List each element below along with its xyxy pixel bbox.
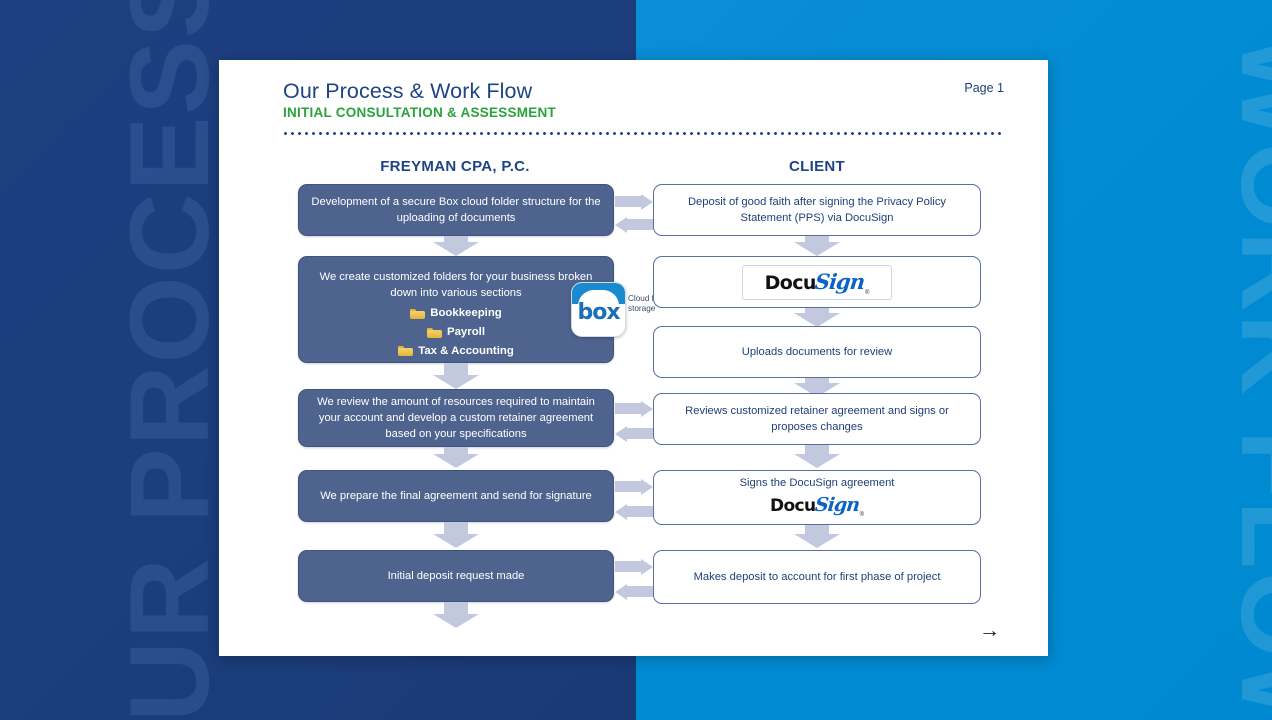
list-item: Tax & Accounting bbox=[398, 343, 514, 360]
page-label: Page 1 bbox=[964, 81, 1004, 95]
folder-icon bbox=[427, 327, 442, 338]
registered-mark: ® bbox=[865, 289, 869, 298]
folder-list: Bookkeeping Payroll Tax & Accounting bbox=[311, 305, 601, 359]
registered-mark: ® bbox=[860, 511, 864, 520]
arrow-down-firm-3 bbox=[433, 447, 479, 468]
arrow-left-row-5 bbox=[615, 583, 653, 600]
arrow-down-client-5 bbox=[794, 525, 840, 548]
column-header-firm: FREYMAN CPA, P.C. bbox=[297, 158, 613, 175]
arrow-right-row-4 bbox=[615, 478, 653, 495]
docusign-logo-panel: Docu Sign ® bbox=[742, 265, 892, 300]
column-header-client: CLIENT bbox=[653, 158, 981, 175]
client-step-3: Uploads documents for review bbox=[653, 326, 981, 378]
slide-stage: OUR PROCESS WORK FLOW Page 1 Our Process… bbox=[0, 0, 1272, 720]
header-dotted-divider bbox=[282, 132, 1002, 135]
list-item: Bookkeeping bbox=[410, 305, 502, 322]
arrow-left-row-1 bbox=[615, 216, 653, 233]
arrow-down-client-4 bbox=[794, 445, 840, 468]
arrow-right-row-3 bbox=[615, 400, 653, 417]
page-title: Our Process & Work Flow bbox=[283, 79, 532, 104]
firm-step-2-text: We create customized folders for your bu… bbox=[311, 269, 601, 301]
docusign-docu-text: Docu bbox=[765, 270, 816, 298]
arrow-down-client-1 bbox=[794, 236, 840, 256]
firm-step-4: We prepare the final agreement and send … bbox=[298, 470, 614, 522]
client-docusign-logo-box: Docu Sign ® bbox=[653, 256, 981, 308]
watermark-work-flow: WORK FLOW bbox=[1224, 0, 1272, 720]
folder-icon bbox=[410, 308, 425, 319]
firm-step-1: Development of a secure Box cloud folder… bbox=[298, 184, 614, 236]
list-item: Payroll bbox=[427, 324, 485, 341]
arrow-left-row-3 bbox=[615, 425, 653, 442]
docusign-logo-icon: Docu Sign ® bbox=[770, 492, 864, 520]
arrow-down-firm-5 bbox=[433, 602, 479, 628]
docusign-sign-text: Sign bbox=[813, 492, 860, 520]
folder-icon bbox=[398, 345, 413, 356]
client-step-5-text: Signs the DocuSign agreement bbox=[740, 475, 895, 491]
client-step-6: Makes deposit to account for first phase… bbox=[653, 550, 981, 604]
folder-label: Bookkeeping bbox=[430, 305, 502, 322]
slide-card: Page 1 Our Process & Work Flow INITIAL C… bbox=[219, 60, 1048, 656]
arrow-down-firm-1 bbox=[433, 236, 479, 256]
docusign-logo-icon: Docu Sign ® bbox=[765, 267, 870, 298]
arrow-down-firm-4 bbox=[433, 522, 479, 548]
client-step-1: Deposit of good faith after signing the … bbox=[653, 184, 981, 236]
arrow-left-row-4 bbox=[615, 503, 653, 520]
arrow-right-row-1 bbox=[615, 193, 653, 210]
box-logo-icon: box bbox=[571, 282, 626, 337]
docusign-sign-text: Sign bbox=[813, 267, 865, 297]
client-step-4: Reviews customized retainer agreement an… bbox=[653, 393, 981, 445]
firm-step-3: We review the amount of resources requir… bbox=[298, 389, 614, 447]
folder-label: Tax & Accounting bbox=[418, 343, 514, 360]
next-page-arrow-icon[interactable]: → bbox=[979, 620, 1000, 641]
page-subtitle: INITIAL CONSULTATION & ASSESSMENT bbox=[283, 105, 556, 120]
docusign-docu-text: Docu bbox=[770, 494, 816, 519]
box-wordmark: box bbox=[572, 300, 625, 325]
arrow-right-row-5 bbox=[615, 558, 653, 575]
firm-step-2: We create customized folders for your bu… bbox=[298, 256, 614, 363]
folder-label: Payroll bbox=[447, 324, 485, 341]
firm-step-5: Initial deposit request made bbox=[298, 550, 614, 602]
watermark-our-process: OUR PROCESS bbox=[114, 0, 226, 720]
client-step-5: Signs the DocuSign agreement Docu Sign ® bbox=[653, 470, 981, 525]
arrow-down-client-2 bbox=[794, 308, 840, 327]
arrow-down-firm-2 bbox=[433, 363, 479, 389]
